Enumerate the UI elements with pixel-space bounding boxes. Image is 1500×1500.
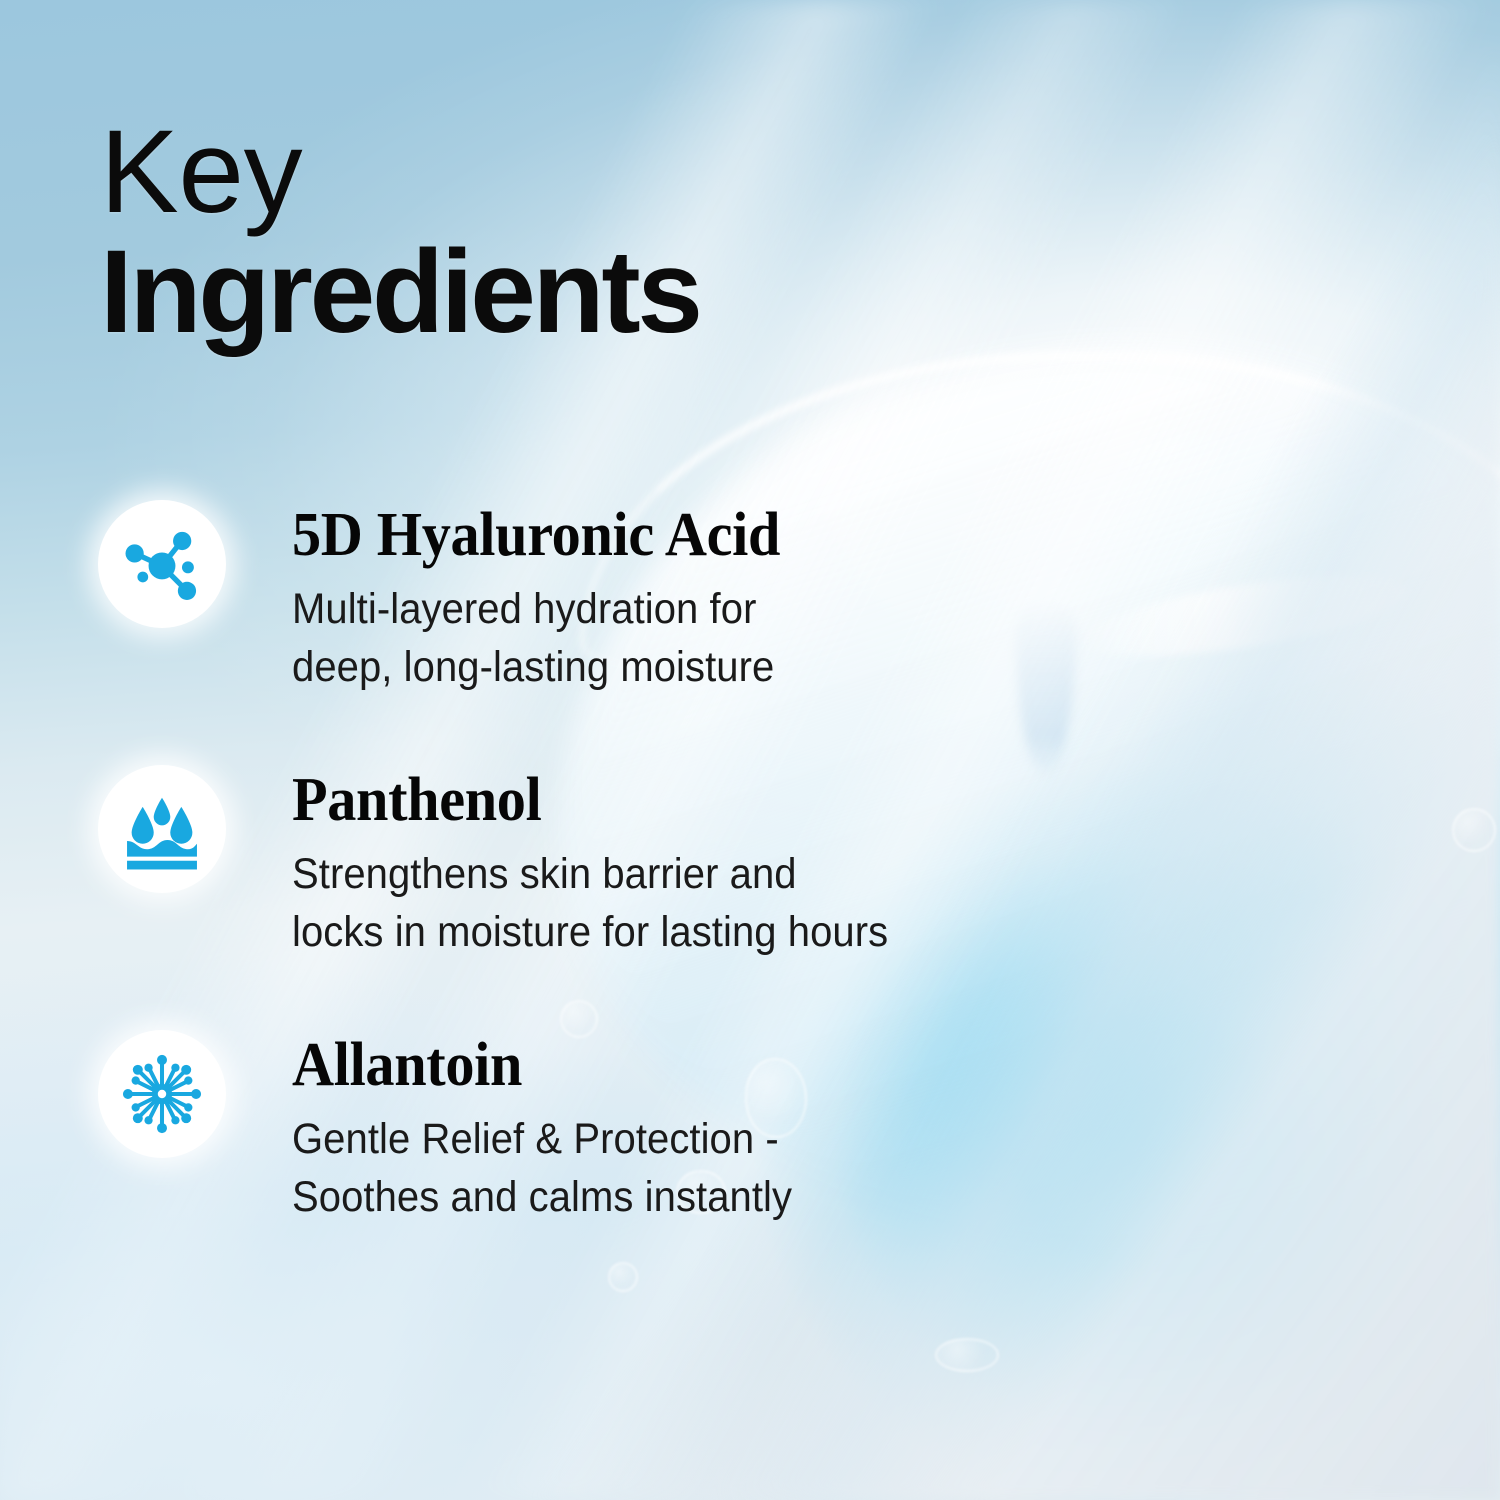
ingredient-name: Panthenol: [292, 769, 895, 831]
ingredient-description: Strengthens skin barrier and locks in mo…: [292, 845, 888, 962]
ingredient-description: Gentle Relief & Protection - Soothes and…: [292, 1110, 792, 1227]
ingredient-description: Multi-layered hydration for deep, long-l…: [292, 580, 775, 697]
ingredient-name: Allantoin: [292, 1034, 797, 1096]
ingredient-text-block: Allantoin Gentle Relief & Protection - S…: [226, 1030, 830, 1227]
page-title-line-1: Key: [100, 116, 700, 229]
snowflake-burst-icon: [98, 1030, 226, 1158]
water-droplets-icon: [98, 765, 226, 893]
key-ingredients-infographic: Key Ingredients: [0, 0, 1500, 1500]
page-title-line-2: Ingredients: [100, 236, 700, 349]
ingredient-text-block: Panthenol Strengthens skin barrier and l…: [226, 765, 933, 962]
ingredient-name: 5D Hyaluronic Acid: [292, 504, 780, 566]
molecule-icon: [98, 500, 226, 628]
page-title: Key Ingredients: [100, 116, 700, 349]
ingredient-text-block: 5D Hyaluronic Acid Multi-layered hydrati…: [226, 500, 811, 697]
ingredient-list: 5D Hyaluronic Acid Multi-layered hydrati…: [98, 500, 1158, 1227]
ingredient-item-hyaluronic-acid: 5D Hyaluronic Acid Multi-layered hydrati…: [98, 500, 1158, 697]
ingredient-item-panthenol: Panthenol Strengthens skin barrier and l…: [98, 765, 1158, 962]
ingredient-item-allantoin: Allantoin Gentle Relief & Protection - S…: [98, 1030, 1158, 1227]
